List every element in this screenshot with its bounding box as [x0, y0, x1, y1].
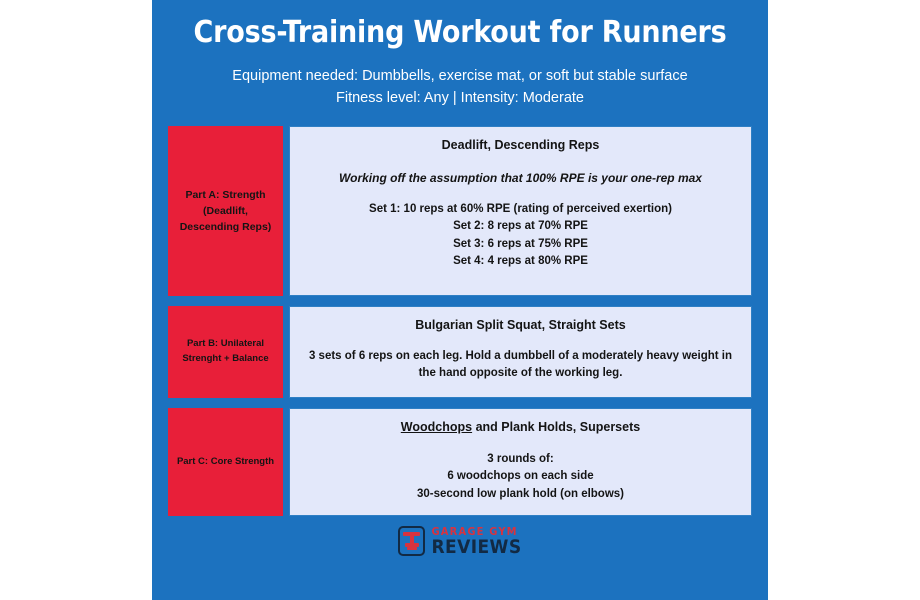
section-content-part-a: Deadlift, Descending Reps Working off th… [289, 126, 752, 296]
woodchops-link[interactable]: Woodchops [401, 420, 472, 434]
section-row-part-b: Part B: Unilateral Strenght + Balance Bu… [168, 306, 752, 398]
infographic-page: Cross-Training Workout for Runners Equip… [0, 0, 920, 600]
round-item: 6 woodchops on each side [417, 468, 624, 485]
set-list: Set 1: 10 reps at 60% RPE (rating of per… [369, 201, 672, 271]
section-label-part-c: Part C: Core Strength [168, 408, 283, 516]
section-row-part-a: Part A: Strength (Deadlift, Descending R… [168, 126, 752, 296]
exercise-heading-rest: and Plank Holds, Supersets [472, 420, 640, 434]
workout-sections: Part A: Strength (Deadlift, Descending R… [152, 116, 768, 516]
page-title: Cross-Training Workout for Runners [170, 16, 750, 49]
logo-wordmark: GARAGE GYM REVIEWS [431, 526, 521, 557]
section-label-text: Part A: Strength (Deadlift, Descending R… [174, 187, 277, 236]
section-label-text: Part B: Unilateral Strenght + Balance [174, 337, 277, 366]
logo-bottom-text: REVIEWS [431, 538, 521, 557]
section-content-part-c: Woodchops and Plank Holds, Supersets 3 r… [289, 408, 752, 516]
section-row-part-c: Part C: Core Strength Woodchops and Plan… [168, 408, 752, 516]
set-item: Set 4: 4 reps at 80% RPE [369, 253, 672, 270]
exercise-heading: Woodchops and Plank Holds, Supersets [401, 419, 640, 436]
exercise-heading: Bulgarian Split Squat, Straight Sets [415, 317, 625, 334]
round-item: 30-second low plank hold (on elbows) [417, 486, 624, 503]
set-item: Set 3: 6 reps at 75% RPE [369, 236, 672, 253]
blue-canvas: Cross-Training Workout for Runners Equip… [152, 0, 768, 600]
footer-logo: GARAGE GYM REVIEWS [152, 526, 768, 557]
squat-rack-icon [398, 526, 425, 556]
rpe-note: Working off the assumption that 100% RPE… [339, 170, 702, 186]
fitness-level-line: Fitness level: Any | Intensity: Moderate [170, 87, 750, 109]
round-item: 3 rounds of: [417, 451, 624, 468]
set-item: Set 2: 8 reps at 70% RPE [369, 218, 672, 235]
section-label-text: Part C: Core Strength [177, 455, 274, 470]
section-label-part-a: Part A: Strength (Deadlift, Descending R… [168, 126, 283, 296]
round-list: 3 rounds of: 6 woodchops on each side 30… [417, 451, 624, 503]
exercise-description: 3 sets of 6 reps on each leg. Hold a dum… [302, 348, 739, 383]
section-label-part-b: Part B: Unilateral Strenght + Balance [168, 306, 283, 398]
set-item: Set 1: 10 reps at 60% RPE (rating of per… [369, 201, 672, 218]
header: Cross-Training Workout for Runners Equip… [152, 0, 768, 116]
exercise-heading: Deadlift, Descending Reps [442, 137, 600, 154]
equipment-line: Equipment needed: Dumbbells, exercise ma… [170, 65, 750, 87]
section-content-part-b: Bulgarian Split Squat, Straight Sets 3 s… [289, 306, 752, 398]
